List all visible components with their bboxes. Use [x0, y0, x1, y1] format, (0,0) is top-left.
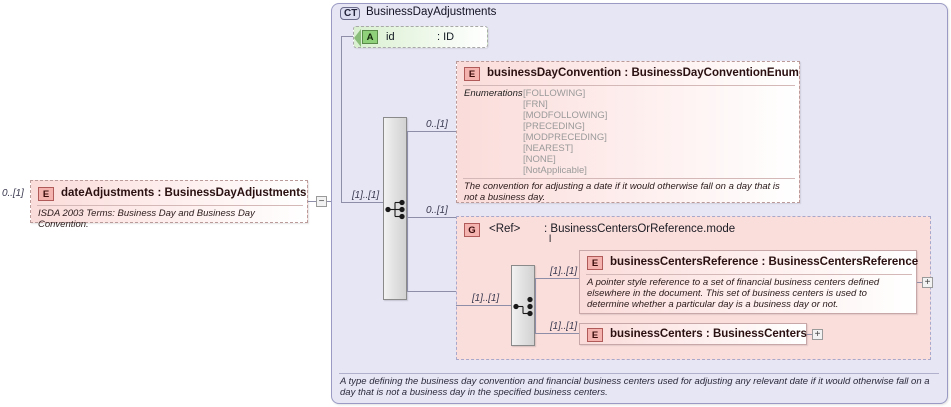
element-date-adjustments[interactable]: E dateAdjustments : BusinessDayAdjustmen…	[30, 180, 308, 223]
enumeration-item: [PRECEDING]	[523, 121, 607, 132]
connector-line	[341, 202, 383, 203]
element-divider	[586, 274, 912, 275]
attribute-name: id	[386, 31, 395, 43]
element-name: dateAdjustments	[61, 187, 154, 199]
element-badge-icon: E	[464, 67, 480, 81]
connector-line	[308, 201, 316, 202]
group-ref-label: <Ref>	[489, 223, 520, 235]
element-business-centers-title: businessCenters : BusinessCenters	[610, 328, 807, 340]
element-divider	[463, 85, 795, 86]
complex-type-divider	[339, 373, 939, 374]
attribute-type-value: ID	[443, 31, 454, 43]
group-separator: :	[544, 223, 547, 235]
element-separator: :	[706, 328, 710, 340]
choice-compositor[interactable]	[511, 265, 535, 346]
connector-line	[407, 131, 456, 132]
element-business-centers-reference[interactable]: E businessCentersReference : BusinessCen…	[579, 250, 917, 314]
element-name: businessCenters	[610, 328, 703, 340]
element-badge-icon: E	[587, 328, 603, 342]
group-ref-cardinality: 0..[1]	[426, 205, 448, 216]
element-type: BusinessCentersReference	[769, 256, 919, 268]
element-date-adjustments-annotation: ISDA 2003 Terms: Business Day and Busine…	[38, 208, 306, 230]
element-divider	[37, 205, 303, 206]
element-badge-icon: E	[587, 256, 603, 270]
attribute-type: : ID	[437, 31, 454, 43]
root-element-cardinality: 0..[1]	[2, 188, 24, 199]
choice-icon	[512, 266, 536, 347]
connector-line	[535, 305, 536, 333]
facet-label-enumerations: Enumerations	[464, 88, 523, 99]
business-centers-reference-cardinality: [1]..[1]	[550, 266, 577, 277]
connector-line	[341, 36, 342, 202]
attribute-chevron-icon	[354, 29, 361, 47]
expand-toggle-business-centers-reference[interactable]: +	[922, 277, 933, 288]
enumeration-item: [MODFOLLOWING]	[523, 110, 607, 121]
element-business-centers[interactable]: E businessCenters : BusinessCenters	[579, 323, 807, 345]
sequence-icon	[384, 118, 408, 301]
connector-line	[341, 36, 353, 37]
element-separator: :	[624, 67, 628, 79]
complex-type-annotation: A type defining the business day convent…	[340, 376, 940, 398]
attribute-separator: :	[437, 31, 440, 43]
sequence-compositor[interactable]	[383, 117, 407, 300]
business-day-convention-cardinality: 0..[1]	[426, 119, 448, 130]
element-date-adjustments-title: dateAdjustments : BusinessDayAdjustments	[61, 187, 306, 199]
connector-line	[407, 291, 456, 292]
enumeration-item: [NONE]	[523, 154, 607, 165]
enumeration-item: [NotApplicable]	[523, 165, 607, 176]
connector-line	[407, 217, 456, 218]
connector-line	[535, 278, 579, 279]
group-badge-icon: G	[464, 223, 480, 237]
element-business-centers-reference-annotation: A pointer style reference to a set of fi…	[587, 277, 909, 310]
expand-toggle-business-centers[interactable]: +	[812, 329, 823, 340]
enumeration-item: [MODPRECEDING]	[523, 132, 607, 143]
enumeration-item: [NEAREST]	[523, 143, 607, 154]
sequence-cardinality: [1]..[1]	[352, 190, 379, 201]
business-centers-cardinality: [1]..[1]	[550, 321, 577, 332]
element-business-day-convention-annotation: The convention for adjusting a date if i…	[464, 181, 794, 203]
element-business-centers-reference-title: businessCentersReference : BusinessCente…	[610, 256, 918, 268]
connector-line	[456, 305, 511, 306]
element-separator: :	[158, 187, 162, 199]
enumeration-item: [FRN]	[523, 99, 607, 110]
element-badge-icon: E	[38, 187, 54, 201]
collapse-toggle-root[interactable]: −	[316, 196, 327, 207]
attribute-badge-icon: A	[362, 30, 378, 44]
complex-type-badge-icon: CT	[340, 7, 360, 20]
complex-type-title: BusinessDayAdjustments	[366, 6, 496, 18]
attribute-id[interactable]: A id : ID	[353, 26, 488, 48]
element-name: businessDayConvention	[487, 67, 621, 79]
element-separator: :	[762, 256, 766, 268]
element-type: BusinessDayAdjustments	[165, 187, 307, 199]
enumeration-item: [FOLLOWING]	[523, 88, 607, 99]
element-divider	[463, 178, 795, 179]
group-type-value: BusinessCentersOrReference.mode	[550, 223, 735, 235]
connector-line	[535, 333, 579, 334]
connector-line	[535, 278, 536, 305]
xsd-diagram-canvas: 0..[1] E dateAdjustments : BusinessDayAd…	[0, 0, 951, 407]
element-business-day-convention-title: businessDayConvention : BusinessDayConve…	[487, 67, 799, 79]
connector-line	[407, 202, 408, 291]
enumeration-list: [FOLLOWING] [FRN] [MODFOLLOWING] [PRECED…	[523, 88, 607, 176]
group-ref-type: : BusinessCentersOrReference.mode	[544, 223, 735, 235]
choice-cardinality: [1]..[1]	[472, 293, 499, 304]
element-business-day-convention[interactable]: E businessDayConvention : BusinessDayCon…	[456, 61, 800, 203]
element-type: BusinessCenters	[713, 328, 807, 340]
group-ref-second-line: l	[549, 234, 551, 245]
element-type: BusinessDayConventionEnum	[631, 67, 798, 79]
element-name: businessCentersReference	[610, 256, 758, 268]
